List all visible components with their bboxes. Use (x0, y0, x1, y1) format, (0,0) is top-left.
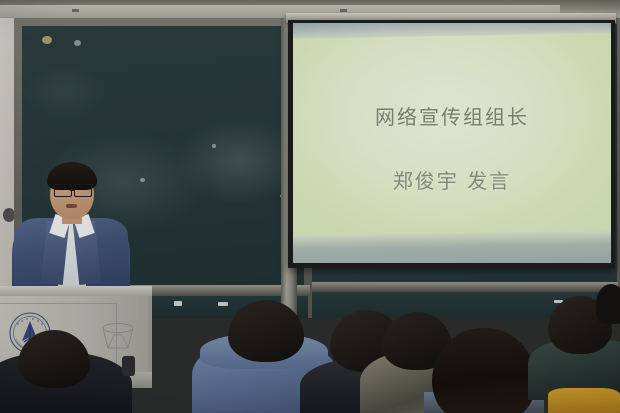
ceiling-fixture-dot (72, 9, 79, 12)
projector-screen: 网络宣传组组长 郑俊宇 发言 (293, 23, 611, 263)
slide-title-line-2: 郑俊宇 发言 (293, 165, 611, 194)
yellow-item (548, 388, 620, 413)
chalk-piece (174, 301, 182, 306)
slide-title-line-1: 网络宣传组组长 (293, 101, 611, 130)
audience-member-7-hair (596, 284, 620, 324)
screen-bottom-band (293, 231, 611, 263)
lecture-hall-photo: 网络宣传组组长 郑俊宇 发言 (0, 0, 620, 413)
eyeglasses-bridge (70, 189, 75, 191)
ceiling-fixture-dot (340, 9, 347, 12)
eyeglasses-icon (74, 184, 92, 197)
handheld-device (122, 356, 135, 376)
blackboard-right-chalk-rail (296, 282, 618, 292)
chalk-piece (218, 302, 228, 306)
audience-member-5-hair (432, 328, 536, 413)
trapezoid-outline-drawing-icon (98, 322, 138, 352)
presenter-mouth (66, 204, 77, 208)
projector-glow (293, 23, 611, 263)
